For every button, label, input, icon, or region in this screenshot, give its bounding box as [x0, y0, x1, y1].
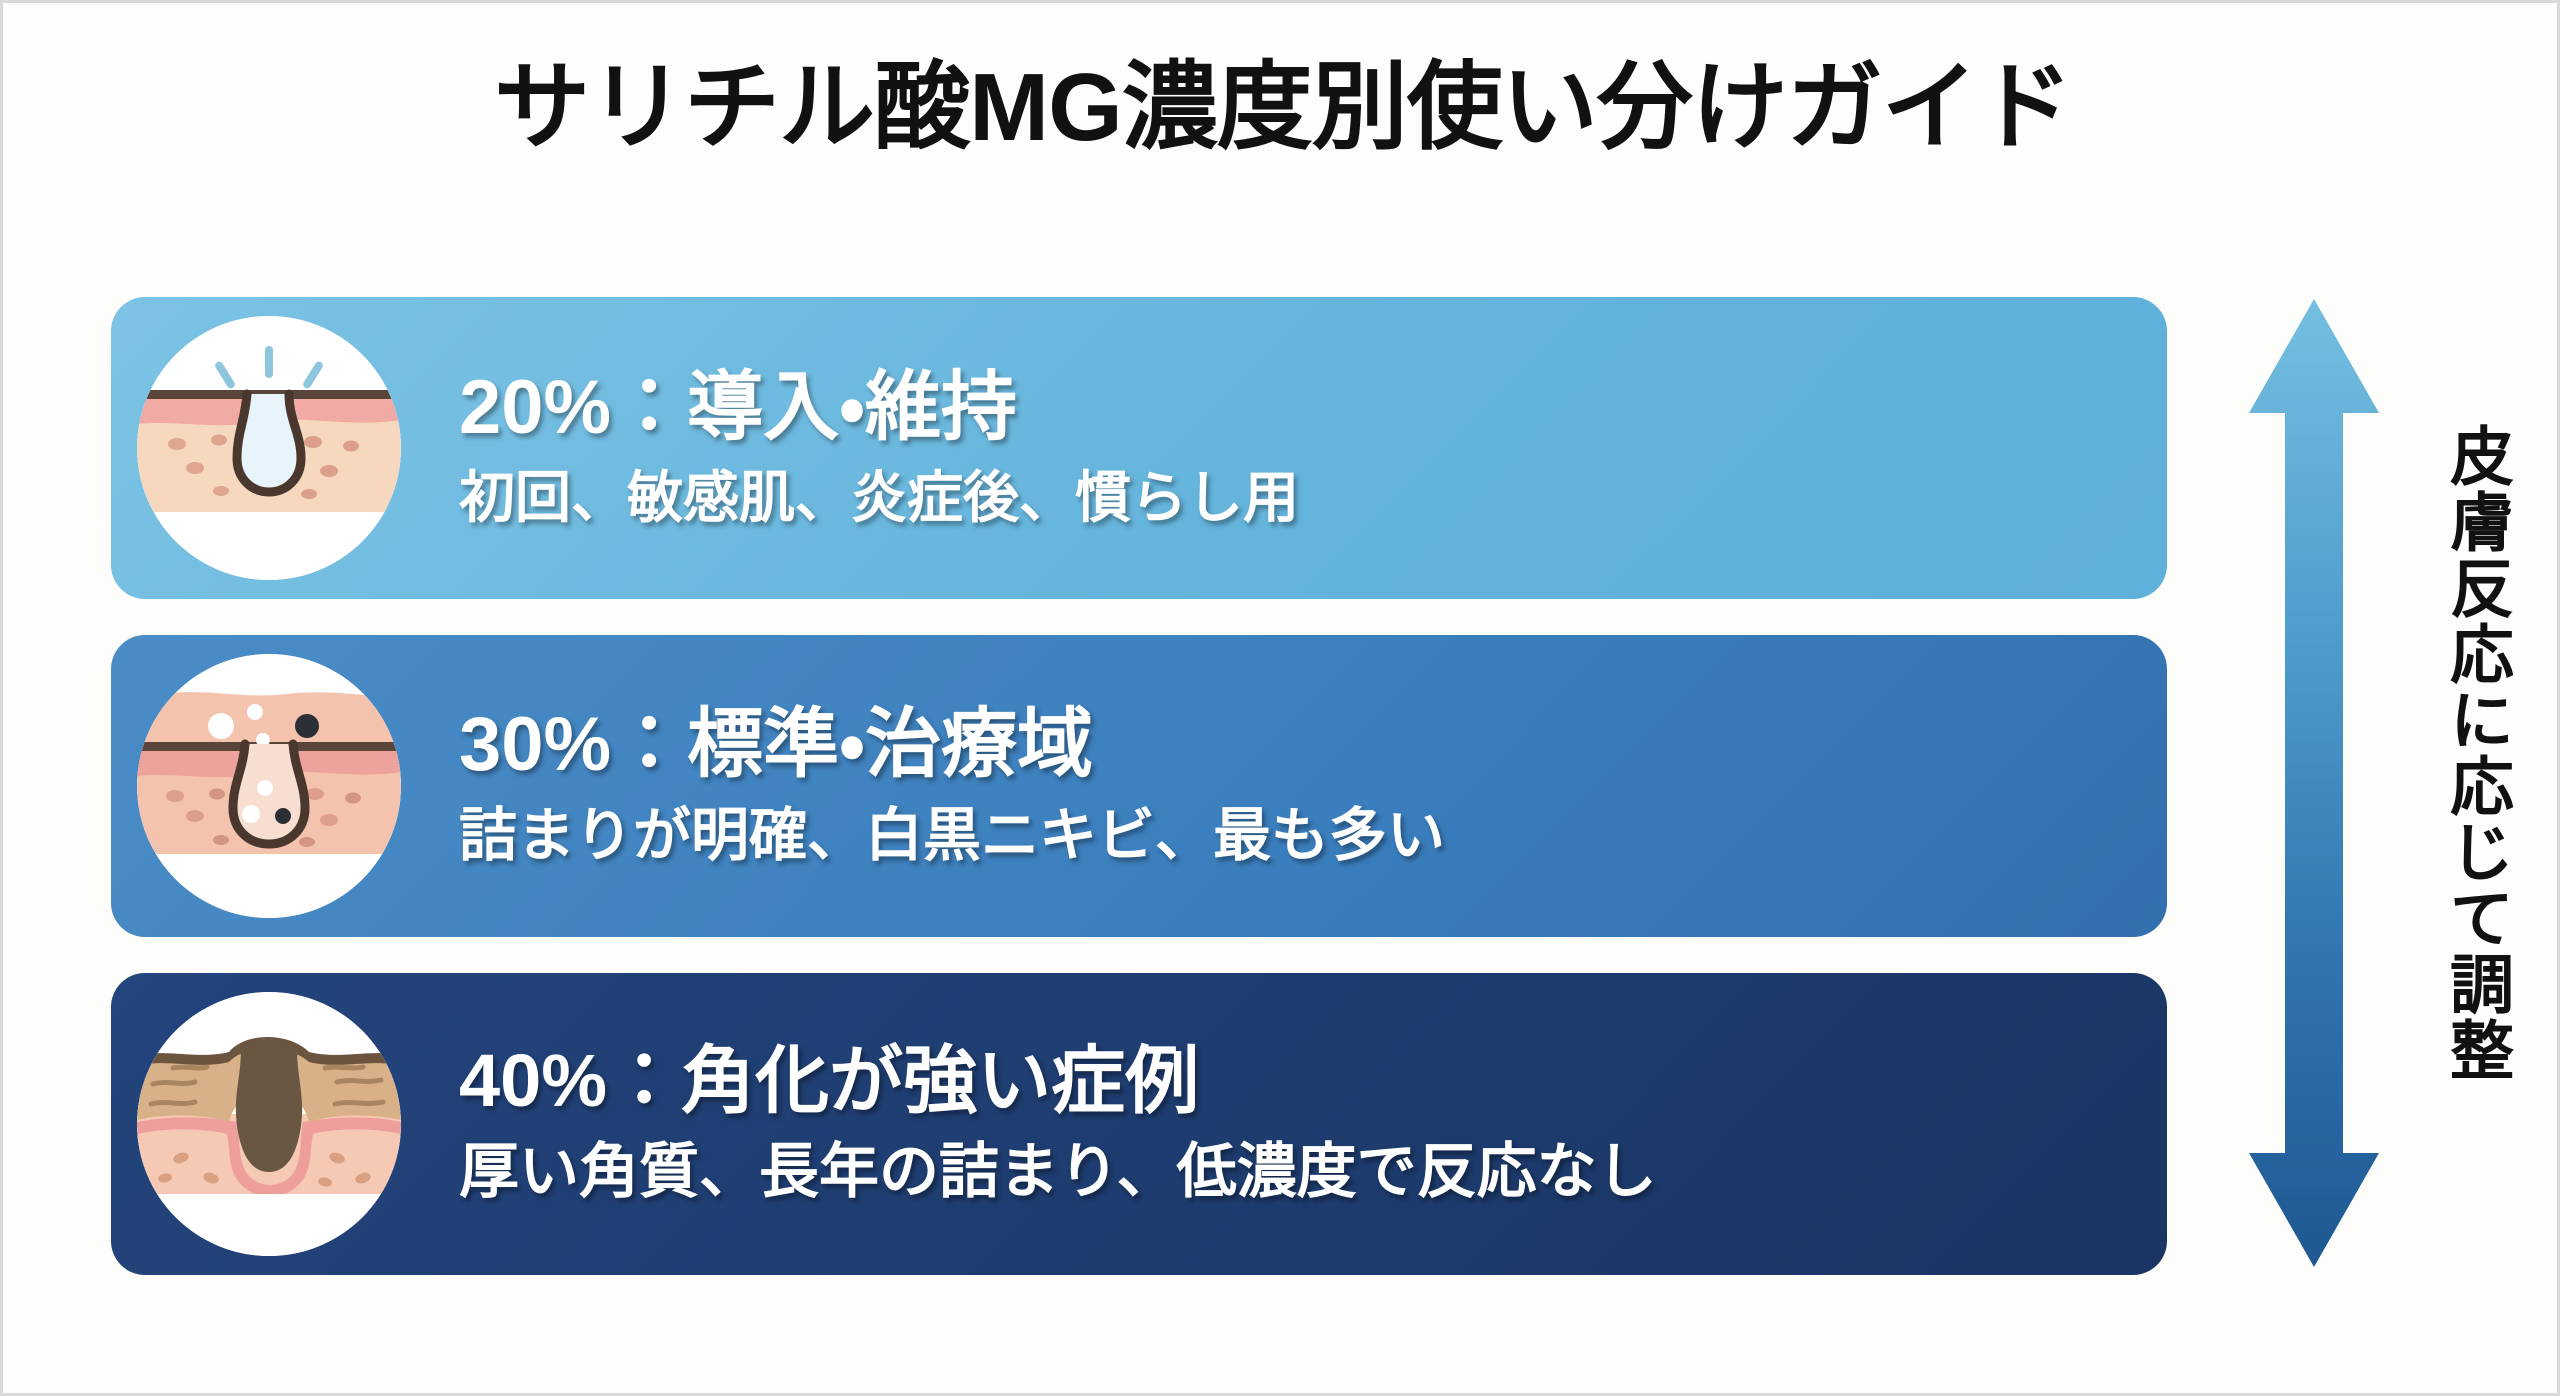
card-subtext: 詰まりが明確、白黒ニキビ、最も多い — [459, 801, 2137, 871]
card-heading: 30%：標準・治療域 — [459, 702, 2137, 787]
concentration-card-30[interactable]: 30%：標準・治療域 詰まりが明確、白黒ニキビ、最も多い — [111, 635, 2167, 937]
skin-comedone-icon — [137, 654, 401, 918]
double-headed-vertical-arrow — [2219, 293, 2409, 1273]
card-text-block: 30%：標準・治療域 詰まりが明確、白黒ニキビ、最も多い — [401, 702, 2167, 871]
concentration-card-40[interactable]: 40%：角化が強い症例 厚い角質、長年の詰まり、低濃度で反応なし — [111, 973, 2167, 1275]
card-heading: 40%：角化が強い症例 — [459, 1040, 2137, 1123]
skin-hyperkeratosis-icon — [137, 992, 401, 1256]
concentration-card-list: 20%：導入・維持 初回、敏感肌、炎症後、慣らし用 — [111, 297, 2167, 1311]
card-text-block: 20%：導入・維持 初回、敏感肌、炎症後、慣らし用 — [401, 365, 2167, 531]
card-text-block: 40%：角化が強い症例 厚い角質、長年の詰まり、低濃度で反応なし — [401, 1040, 2167, 1209]
card-subtext: 初回、敏感肌、炎症後、慣らし用 — [459, 464, 2137, 531]
side-caption-vertical: 皮膚反応に応じて調整 — [2399, 423, 2509, 1143]
infographic-canvas: サリチル酸MG濃度別使い分けガイド — [0, 0, 2560, 1396]
card-heading: 20%：導入・維持 — [459, 365, 2137, 450]
skin-pore-clean-icon — [137, 316, 401, 580]
concentration-card-20[interactable]: 20%：導入・維持 初回、敏感肌、炎症後、慣らし用 — [111, 297, 2167, 599]
page-title: サリチル酸MG濃度別使い分けガイド — [3, 55, 2560, 161]
card-subtext: 厚い角質、長年の詰まり、低濃度で反応なし — [459, 1136, 2137, 1208]
